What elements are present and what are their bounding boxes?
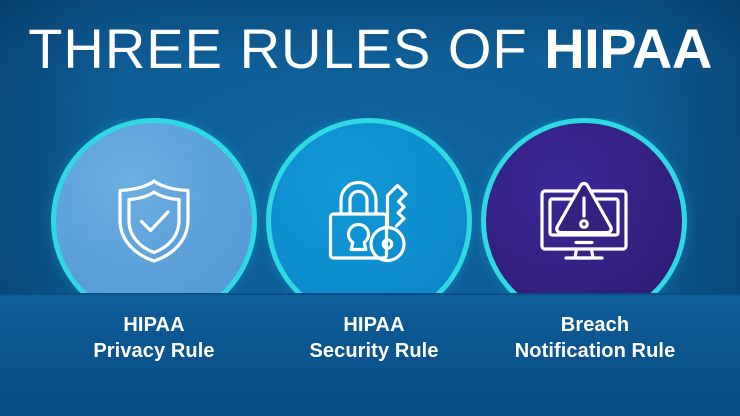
rule-label-privacy-line1: HIPAA xyxy=(44,312,264,338)
rule-labels: HIPAA Privacy Rule HIPAA Security Rule B… xyxy=(0,312,740,392)
rule-label-security-line1: HIPAA xyxy=(264,312,484,338)
rule-label-breach: Breach Notification Rule xyxy=(470,312,720,364)
rule-label-security-line2: Security Rule xyxy=(264,338,484,364)
hipaa-three-rules-infographic: THREE RULES OF HIPAA xyxy=(0,0,740,416)
title-bold-text: HIPAA xyxy=(544,17,712,80)
rule-label-privacy: HIPAA Privacy Rule xyxy=(44,312,264,364)
shield-check-icon xyxy=(51,118,257,293)
circle-band xyxy=(0,118,740,293)
rule-label-privacy-line2: Privacy Rule xyxy=(44,338,264,364)
page-title: THREE RULES OF HIPAA xyxy=(0,18,740,80)
rule-label-breach-line2: Notification Rule xyxy=(470,338,720,364)
padlock-key-icon xyxy=(266,118,472,293)
title-light-text: THREE RULES OF xyxy=(28,17,527,80)
rule-label-breach-line1: Breach xyxy=(470,312,720,338)
rule-label-security: HIPAA Security Rule xyxy=(264,312,484,364)
monitor-warning-icon xyxy=(481,118,687,293)
